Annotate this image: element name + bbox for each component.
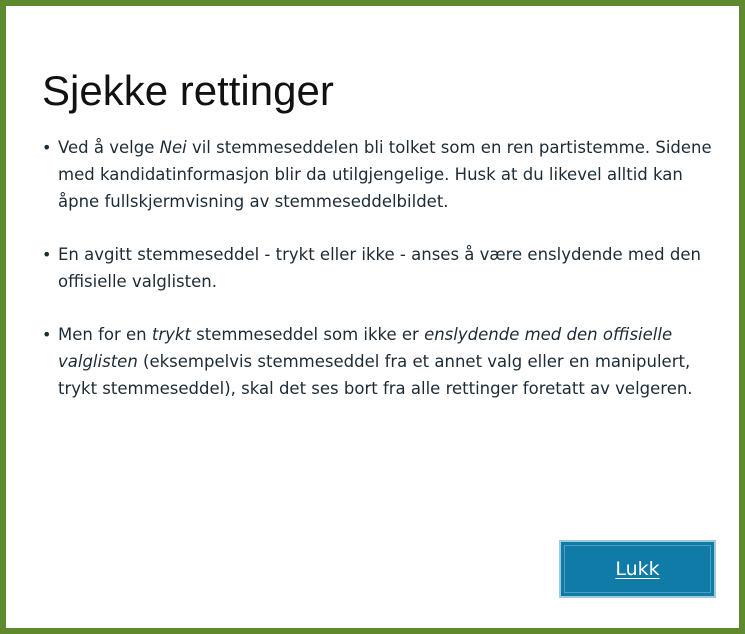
- list-item-text: Ved å velge Nei vil stemmeseddelen bli t…: [58, 134, 714, 215]
- list-item-text: Men for en trykt stemmeseddel som ikke e…: [58, 321, 714, 402]
- close-button[interactable]: Lukk: [559, 540, 716, 598]
- bullet-marker: •: [42, 321, 51, 348]
- info-dialog: Sjekke rettinger • Ved å velge Nei vil s…: [0, 0, 745, 634]
- list-item: • Men for en trykt stemmeseddel som ikke…: [42, 321, 714, 402]
- bullet-list: • Ved å velge Nei vil stemmeseddelen bli…: [42, 134, 714, 402]
- page-title: Sjekke rettinger: [42, 68, 334, 114]
- list-item: • Ved å velge Nei vil stemmeseddelen bli…: [42, 134, 714, 215]
- bullet-marker: •: [42, 134, 51, 161]
- bullet-marker: •: [42, 241, 51, 268]
- list-item: • En avgitt stemmeseddel - trykt eller i…: [42, 241, 714, 295]
- list-item-text: En avgitt stemmeseddel - trykt eller ikk…: [58, 241, 714, 295]
- close-button-label: Lukk: [615, 560, 659, 579]
